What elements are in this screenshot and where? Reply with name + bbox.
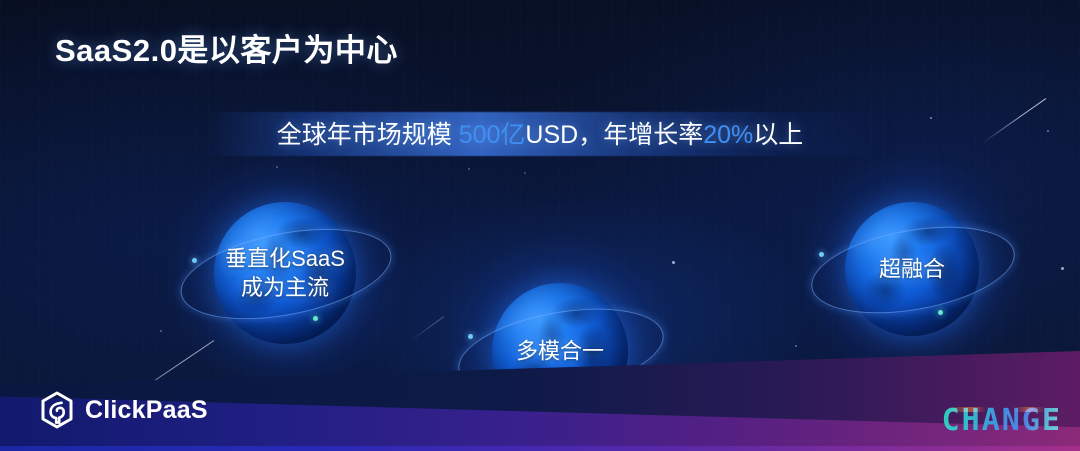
brand-name: ClickPaaS [85,396,208,425]
change-wordmark: CHANGE [942,403,1062,438]
star-dot [468,168,470,170]
globe-orbit-dot [468,334,473,339]
subtitle-text: 全球年市场规模 500亿USD，年增长率20%以上 [0,115,1080,151]
subtitle-part-3: 以上 [753,121,803,149]
footer-band-accent-edge [0,446,1080,451]
globe-orbit-dot [819,252,824,257]
star-dot [160,330,162,332]
subtitle-part-1: 全球年市场规模 [277,121,459,149]
star-dot [795,345,797,347]
hexagon-leaf-logo-icon [40,391,74,429]
subtitle-part-2: USD，年增长率 [525,121,703,149]
star-dot [276,166,278,168]
subtitle-highlight-growth-rate: 20% [703,121,753,149]
star-dot [672,261,675,264]
globe-orbit-dot [192,258,197,263]
subtitle-highlight-market-size: 500亿 [459,121,526,149]
globe-sphere [214,202,356,344]
brand-logo[interactable]: ClickPaaS [40,391,208,429]
star-dot [524,172,526,174]
star-dot [1061,267,1064,270]
slide-canvas: SaaS2.0是以客户为中心 全球年市场规模 500亿USD，年增长率20%以上… [0,0,1080,451]
globe-vertical-saas[interactable]: 垂直化SaaS 成为主流 [190,185,380,360]
shooting-star-streak [411,316,444,340]
page-title: SaaS2.0是以客户为中心 [55,25,398,70]
globe-hyper-converged[interactable]: 超融合 [822,186,1002,352]
globe-sphere [845,202,979,336]
